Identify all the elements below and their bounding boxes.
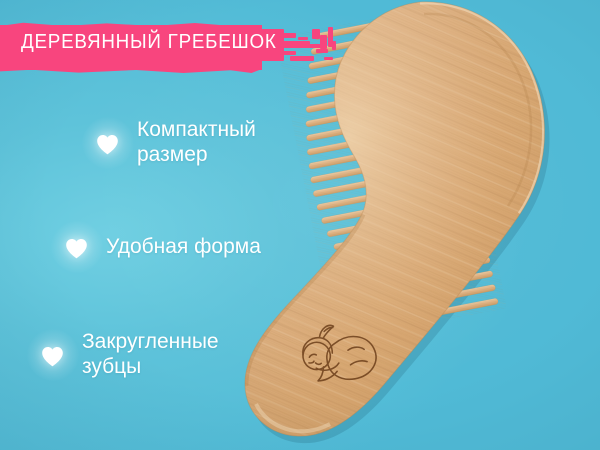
feature-item-compact-size: Компактный размер [93, 118, 256, 168]
heart-icon [38, 340, 68, 370]
heart-icon [62, 232, 92, 262]
feature-label: Компактный размер [137, 118, 256, 168]
page-title: ДЕРЕВЯННЫЙ ГРЕБЕШОК [21, 31, 277, 54]
heart-icon [93, 128, 123, 158]
product-banner: ДЕРЕВЯННЫЙ ГРЕБЕШОК Компактный размер Уд… [0, 0, 600, 450]
feature-label: Закругленные зубцы [82, 330, 219, 380]
feature-label: Удобная форма [106, 235, 261, 260]
feature-item-comfortable-shape: Удобная форма [62, 232, 261, 262]
feature-item-rounded-teeth: Закругленные зубцы [38, 330, 219, 380]
